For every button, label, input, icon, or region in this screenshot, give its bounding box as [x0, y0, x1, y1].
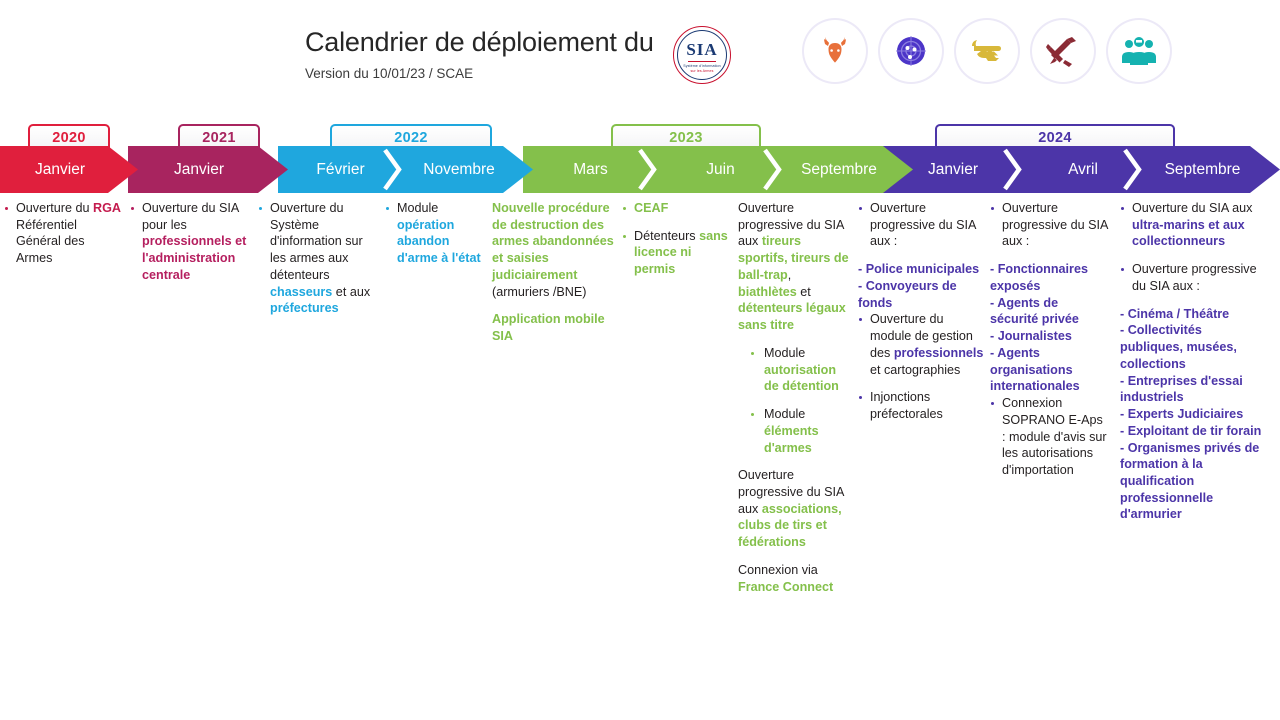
timeline-segment-month-label: Juin [706, 161, 734, 179]
timeline-item: Ouverture progressive du SIA aux : [858, 200, 986, 250]
pictogram-row [800, 20, 1200, 90]
timeline-item: Module opération abandon d'arme à l'état [385, 200, 490, 267]
sia-logo: SIA Système d'information sur les Armes [673, 26, 731, 84]
year-label-text: 2022 [394, 130, 427, 146]
col-2024-janvier: Ouverture progressive du SIA aux :- Poli… [858, 200, 986, 423]
timeline-segment-2022-novembre[interactable]: Novembre [403, 146, 533, 193]
col-2024-septembre: Ouverture du SIA aux ultra-marins et aux… [1120, 200, 1268, 523]
timeline-segment-2023-mars[interactable]: Mars [523, 146, 658, 193]
timeline-segment-2023-juin[interactable]: Juin [658, 146, 783, 193]
timeline-segment-month-label: Janvier [35, 161, 85, 179]
timeline-item: Ouverture du module de gestion des profe… [858, 311, 986, 378]
timeline-segment-month-label: Septembre [1165, 161, 1241, 179]
timeline-item: Ouverture progressive du SIA aux tireurs… [738, 200, 850, 334]
timeline-item: - Police municipales [858, 261, 986, 278]
chevron-right-icon [1002, 146, 1024, 193]
sia-logo-text: SIA [674, 40, 730, 60]
timeline-content-columns: Ouverture du RGA Référentiel Général des… [0, 200, 1280, 700]
timeline-item: Ouverture progressive du SIA aux associa… [738, 467, 850, 551]
timeline-item: Module autorisation de détention [738, 345, 850, 395]
chevron-right-icon [1122, 146, 1144, 193]
timeline-item: - Agents de sécurité privée [990, 295, 1108, 328]
timeline-item: Ouverture du RGA Référentiel Général des… [4, 200, 122, 267]
timeline-item: Ouverture du SIA aux ultra-marins et aux… [1120, 200, 1268, 250]
sia-logo-tagline-line2: sur les Armes [674, 69, 730, 74]
hand-rifle-icon [956, 20, 1018, 82]
timeline-segment-month-label: Novembre [423, 161, 495, 179]
timeline-segment-month-label: Février [316, 161, 364, 179]
timeline-segment-2021-janvier[interactable]: Janvier [128, 146, 288, 193]
page-title: Calendrier de déploiement du [305, 28, 665, 58]
timeline-item: Ouverture progressive du SIA aux : [990, 200, 1108, 250]
timeline-item: Connexion via France Connect [738, 562, 850, 595]
timeline-item: - Fonctionnaires exposés [990, 261, 1108, 294]
col-2022-novembre: Module opération abandon d'arme à l'état [385, 200, 490, 267]
col-2020-janvier: Ouverture du RGA Référentiel Général des… [4, 200, 122, 267]
col-2023-mars: Nouvelle procédure de destruction des ar… [492, 200, 617, 345]
crossed-weapons-icon [1032, 20, 1094, 82]
timeline-segment-2022-février[interactable]: Février [278, 146, 403, 193]
timeline-bar: JanvierJanvierFévrierNovembreMarsJuinSep… [0, 146, 1280, 193]
chevron-right-icon [637, 146, 659, 193]
timeline-item: - Collectivités publiques, musées, colle… [1120, 322, 1268, 372]
timeline-item: Application mobile SIA [492, 311, 617, 344]
col-2021-janvier: Ouverture du SIA pour les professionnels… [130, 200, 258, 284]
year-label-2021: 2021 [178, 124, 260, 149]
sia-logo-tagline: Système d'information sur les Armes [674, 64, 730, 75]
timeline-item: - Journalistes [990, 328, 1108, 345]
page-subtitle: Version du 10/01/23 / SCAE [305, 66, 665, 81]
timeline-item: - Cinéma / Théâtre [1120, 306, 1268, 323]
timeline-item: Ouverture du Système d'information sur l… [258, 200, 380, 317]
timeline-item: CEAF [622, 200, 734, 217]
people-group-icon [1108, 20, 1170, 82]
chevron-right-icon [762, 146, 784, 193]
col-2023-juin: CEAFDétenteurs sans licence ni permis [622, 200, 734, 278]
timeline-segment-month-label: Janvier [928, 161, 978, 179]
timeline-item: Ouverture du SIA pour les professionnels… [130, 200, 258, 284]
sia-logo-bar [688, 61, 716, 62]
timeline-segment-month-label: Janvier [174, 161, 224, 179]
timeline-item: - Organismes privés de formation à la qu… [1120, 440, 1268, 524]
timeline-item: - Convoyeurs de fonds [858, 278, 986, 311]
year-label-text: 2021 [202, 130, 235, 146]
timeline-item: Injonctions préfectorales [858, 389, 986, 422]
timeline-segment-2024-septembre[interactable]: Septembre [1143, 146, 1280, 193]
timeline-item: Nouvelle procédure de destruction des ar… [492, 200, 617, 300]
year-label-text: 2023 [669, 130, 702, 146]
target-icon [880, 20, 942, 82]
timeline-item: - Exploitant de tir forain [1120, 423, 1268, 440]
col-2023-septembre: Ouverture progressive du SIA aux tireurs… [738, 200, 850, 595]
page-header: Calendrier de déploiement du Version du … [0, 0, 1280, 110]
timeline-segment-month-label: Septembre [801, 161, 877, 179]
col-2022-fevrier: Ouverture du Système d'information sur l… [258, 200, 380, 317]
deer-head-icon [804, 20, 866, 82]
timeline-item: Détenteurs sans licence ni permis [622, 228, 734, 278]
timeline-segment-2020-janvier[interactable]: Janvier [0, 146, 138, 193]
timeline-item: - Experts Judiciaires [1120, 406, 1268, 423]
timeline-segment-month-label: Mars [573, 161, 607, 179]
year-label-text: 2020 [52, 130, 85, 146]
timeline-item: Connexion SOPRANO E-Aps : module d'avis … [990, 395, 1108, 479]
title-block: Calendrier de déploiement du Version du … [305, 28, 665, 81]
year-label-text: 2024 [1038, 130, 1071, 146]
timeline-item: - Agents organisations internationales [990, 345, 1108, 395]
timeline-item: - Entreprises d'essai industriels [1120, 373, 1268, 406]
chevron-right-icon [382, 146, 404, 193]
timeline-segment-month-label: Avril [1068, 161, 1098, 179]
year-label-2020: 2020 [28, 124, 110, 149]
col-2024-avril: Ouverture progressive du SIA aux :- Fonc… [990, 200, 1108, 479]
timeline-item: Ouverture progressive du SIA aux : [1120, 261, 1268, 294]
timeline-item: Module éléments d'armes [738, 406, 850, 456]
timeline-segment-2024-avril[interactable]: Avril [1023, 146, 1143, 193]
